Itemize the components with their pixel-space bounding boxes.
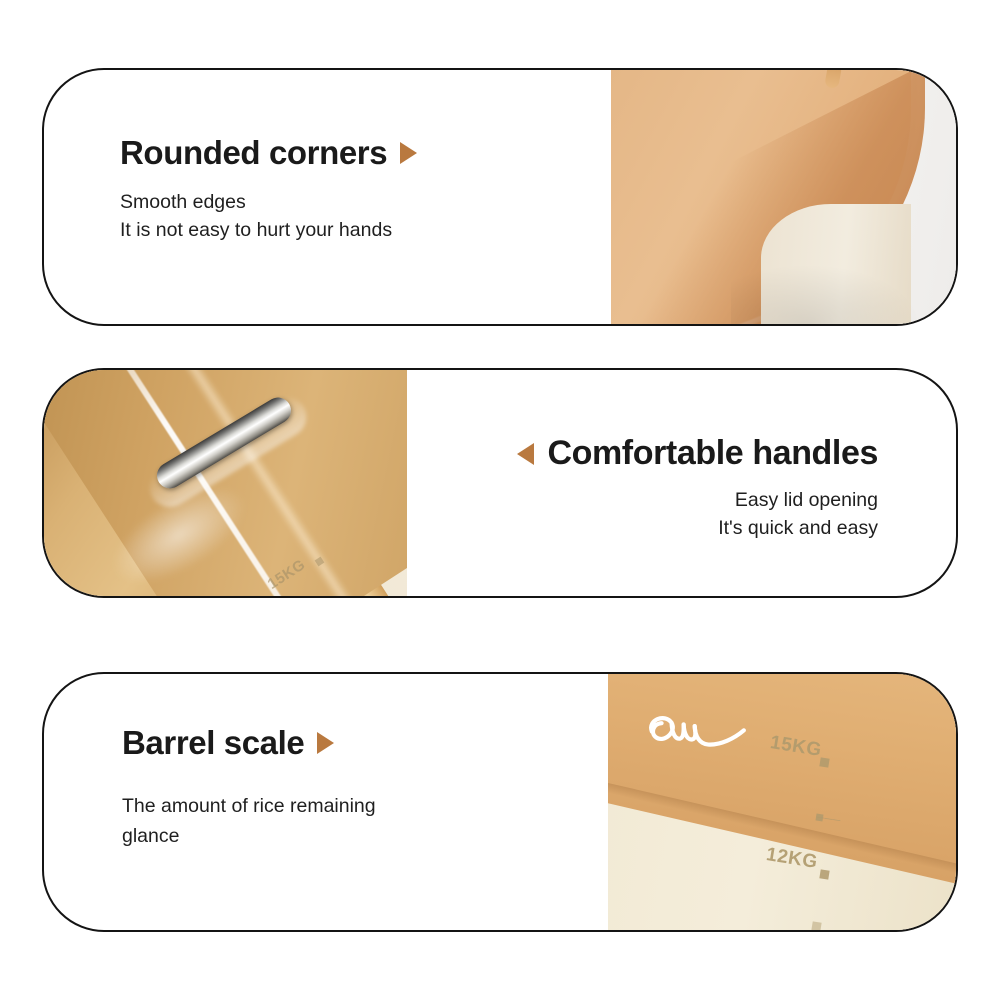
- feature-panel-barrel-scale: 15KG ——— 12KG Barrel scale The amount of…: [42, 672, 958, 932]
- photo-chrome-handle: 15KG: [44, 370, 407, 596]
- panel-2-subtitle-line-2: It's quick and easy: [517, 514, 878, 542]
- arrow-left-icon: [517, 443, 534, 465]
- panel-2-headline: Comfortable handles: [547, 436, 878, 472]
- photo-barrel-scale: 15KG ——— 12KG: [608, 674, 956, 930]
- arrow-right-icon: [400, 142, 417, 164]
- panel-2-subtitle-line-1: Easy lid opening: [517, 486, 878, 514]
- photo-shadow: [731, 264, 921, 324]
- panel-3-headline-row: Barrel scale: [122, 726, 482, 761]
- panel-1-text-block: Rounded corners Smooth edges It is not e…: [120, 136, 417, 244]
- scale-tick-15kg: [819, 757, 829, 767]
- panel-1-headline: Rounded corners: [120, 136, 387, 171]
- panel-2-headline-row: Comfortable handles: [517, 436, 878, 472]
- panel-3-text-block: Barrel scale The amount of rice remainin…: [122, 726, 482, 851]
- feature-panel-rounded-corners: Rounded corners Smooth edges It is not e…: [42, 68, 958, 326]
- feature-panel-comfortable-handles: 15KG Comfortable handles Easy lid openin…: [42, 368, 958, 598]
- brand-logo-icon: [641, 706, 751, 764]
- scale-tick-12kg: [819, 869, 829, 879]
- panel-3-headline: Barrel scale: [122, 726, 304, 761]
- scale-tick-mid: [815, 813, 823, 821]
- panel-3-subtitle-line-1: The amount of rice remaining: [122, 791, 482, 821]
- arrow-right-icon: [317, 732, 334, 754]
- panel-1-subtitle-line-1: Smooth edges: [120, 188, 417, 216]
- panel-1-subtitle-line-2: It is not easy to hurt your hands: [120, 216, 417, 244]
- photo-rounded-corner-lid: [611, 70, 956, 324]
- scale-tick-lower: [811, 921, 821, 930]
- panel-3-subtitle-line-2: glance: [122, 821, 482, 851]
- panel-2-text-block: Comfortable handles Easy lid opening It'…: [517, 436, 878, 542]
- product-feature-page: Rounded corners Smooth edges It is not e…: [0, 0, 1000, 1000]
- panel-1-headline-row: Rounded corners: [120, 136, 417, 171]
